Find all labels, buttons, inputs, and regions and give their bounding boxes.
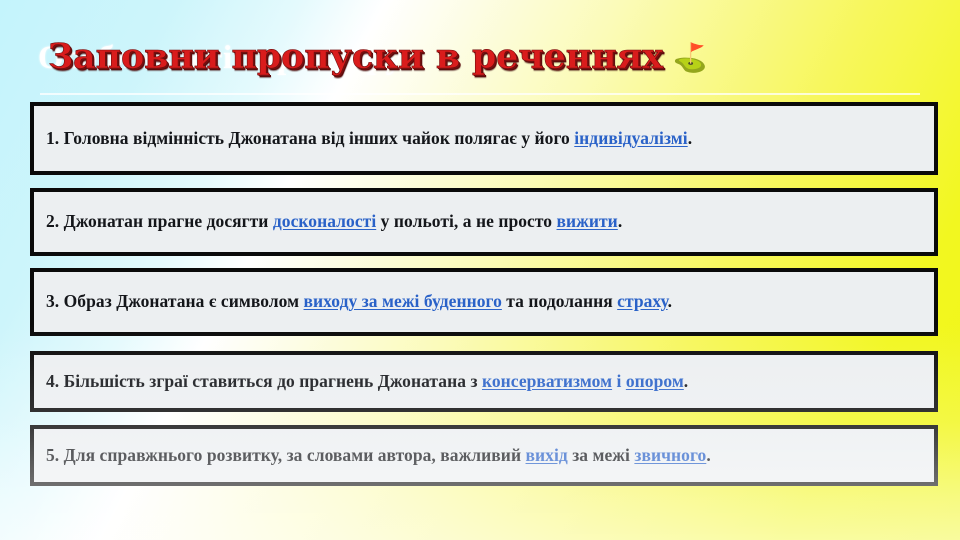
sentence-fragment: у польоті, а не просто xyxy=(376,211,556,231)
page-title-text: Заповни пропуски в реченнях xyxy=(48,36,663,77)
answer-link[interactable]: опором xyxy=(626,371,684,391)
sentence-text-3: 3. Образ Джонатана є символом виходу за … xyxy=(46,291,672,313)
sentence-text-1: 1. Головна відмінність Джонатана від інш… xyxy=(46,128,692,150)
sentence-text-4: 4. Більшість зграї ставиться до прагнень… xyxy=(46,371,688,393)
sentence-fragment: . xyxy=(684,371,688,391)
answer-link[interactable]: консерватизмом xyxy=(482,371,612,391)
sentence-text-5: 5. Для справжнього розвитку, за словами … xyxy=(46,445,711,467)
sentence-fragment: . xyxy=(618,211,622,231)
sentence-fragment: та подолання xyxy=(502,291,617,311)
slide-canvas: Особливості характеру Заповни пропуски в… xyxy=(0,0,960,540)
sentence-fragment: 5. Для справжнього розвитку, за словами … xyxy=(46,445,526,465)
sentence-box-4[interactable]: 4. Більшість зграї ставиться до прагнень… xyxy=(30,351,938,412)
answer-link[interactable]: вихід xyxy=(526,445,568,465)
sentence-fragment: 1. Головна відмінність Джонатана від інш… xyxy=(46,128,574,148)
sentence-box-3[interactable]: 3. Образ Джонатана є символом виходу за … xyxy=(30,268,938,336)
sentence-text-2: 2. Джонатан прагне досягти досконалості … xyxy=(46,211,622,233)
answer-link[interactable]: індивідуалізмі xyxy=(574,128,687,148)
answer-link[interactable]: і xyxy=(612,371,626,391)
sentence-fragment: 3. Образ Джонатана є символом xyxy=(46,291,304,311)
sentence-fragment: . xyxy=(688,128,692,148)
sentence-fragment: 2. Джонатан прагне досягти xyxy=(46,211,273,231)
answer-link[interactable]: страху xyxy=(617,291,667,311)
sentence-fragment: 4. Більшість зграї ставиться до прагнень… xyxy=(46,371,482,391)
sentence-fragment: . xyxy=(706,445,710,465)
answer-link[interactable]: вижити xyxy=(557,211,618,231)
answer-link[interactable]: досконалості xyxy=(273,211,376,231)
sentence-box-1[interactable]: 1. Головна відмінність Джонатана від інш… xyxy=(30,102,938,175)
title-area: Особливості характеру Заповни пропуски в… xyxy=(0,36,960,92)
page-title: Заповни пропуски в реченнях ⛳ xyxy=(48,36,708,77)
answer-link[interactable]: виходу за межі буденного xyxy=(304,291,502,311)
sentence-fragment: . xyxy=(668,291,672,311)
answer-link[interactable]: звичного xyxy=(634,445,706,465)
sentence-box-5[interactable]: 5. Для справжнього розвитку, за словами … xyxy=(30,425,938,486)
sentence-box-2[interactable]: 2. Джонатан прагне досягти досконалості … xyxy=(30,188,938,256)
golf-flag-icon: ⛳ xyxy=(673,45,708,73)
title-divider xyxy=(40,93,920,95)
sentence-fragment: за межі xyxy=(568,445,635,465)
